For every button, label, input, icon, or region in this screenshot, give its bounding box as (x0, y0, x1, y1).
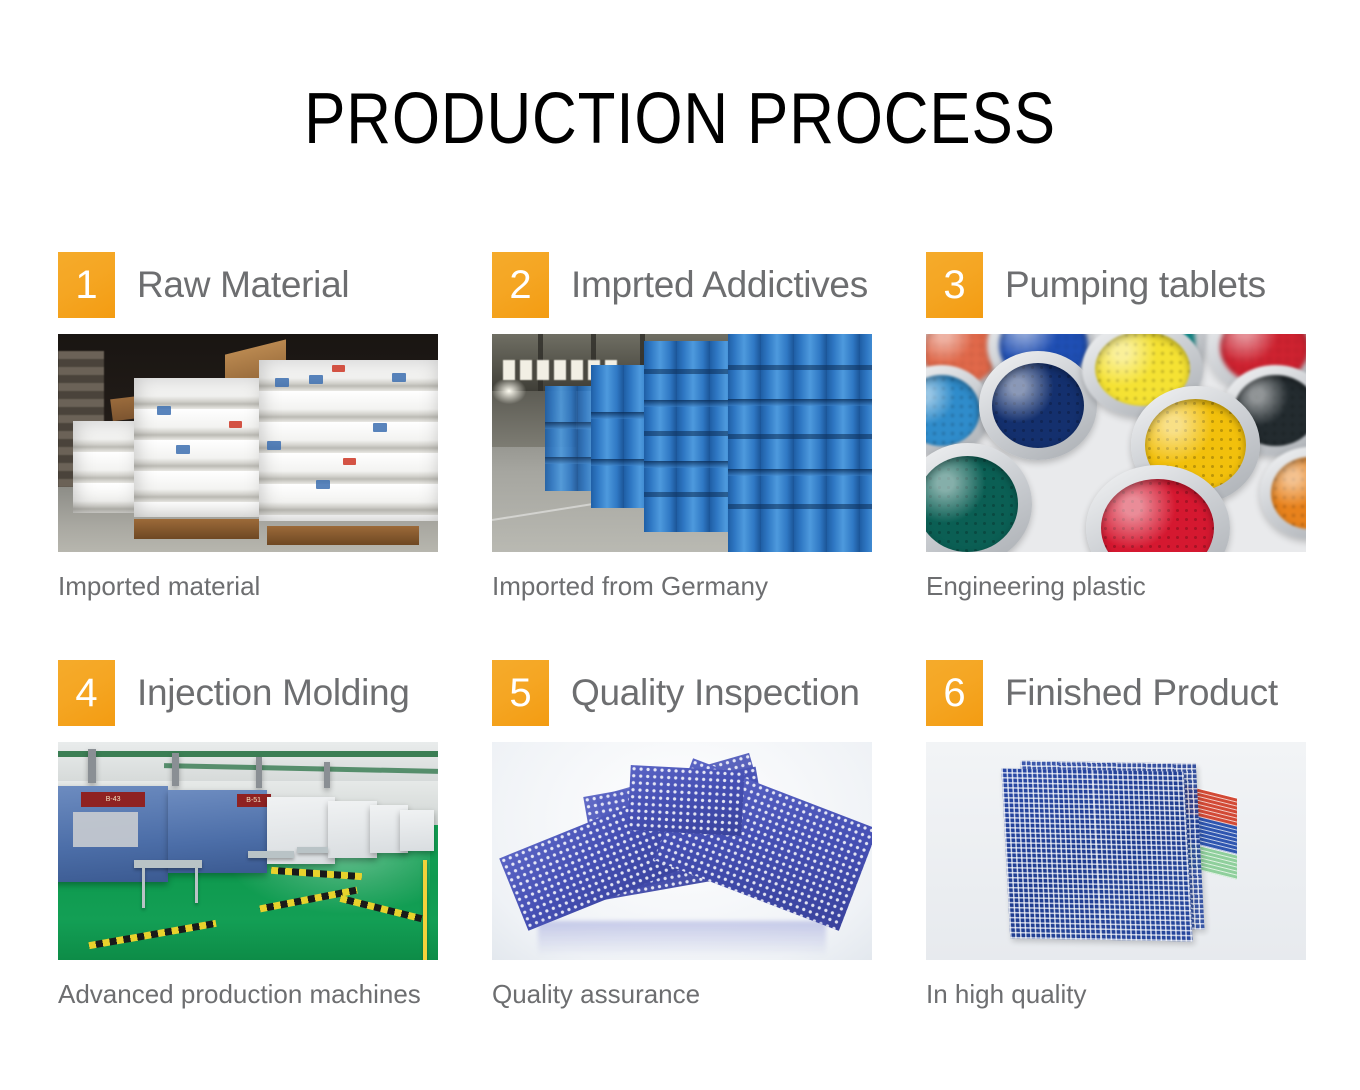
step-header-5: 5 Quality Inspection (492, 660, 872, 726)
step-caption-1: Imported material (58, 571, 438, 602)
sack-print-mark (392, 373, 406, 382)
work-table (248, 851, 294, 858)
page-title: PRODUCTION PROCESS (95, 78, 1265, 160)
step-photo-4: B-43 B-51 (58, 742, 438, 960)
process-step-card-3: 3 Pumping tablets (926, 252, 1306, 602)
drum-tier-line (644, 461, 728, 468)
drum-tier-line (591, 412, 644, 419)
sack-stack-middle (134, 378, 267, 518)
machine-id-label: B-51 (237, 794, 271, 807)
sack-print-mark (157, 406, 171, 415)
factory-ceiling (58, 742, 438, 786)
step-caption-2: Imported from Germany (492, 571, 872, 602)
step-photo-6 (926, 742, 1306, 960)
process-step-card-1: 1 Raw Material Imported mate (58, 252, 438, 602)
drum-band (728, 504, 872, 509)
step-caption-5: Quality assurance (492, 979, 872, 1010)
step-number-badge-1: 1 (58, 252, 115, 318)
wooden-pallet-right (267, 526, 419, 546)
work-table (297, 847, 327, 854)
step-photo-2 (492, 334, 872, 552)
work-table (134, 860, 202, 869)
step-photo-1 (58, 334, 438, 552)
pellet-bowl-orange-front (1260, 447, 1306, 539)
overhead-pipe (58, 751, 438, 757)
step-number-badge-5: 5 (492, 660, 549, 726)
material-hopper-stem (88, 749, 96, 784)
step-number-badge-2: 2 (492, 252, 549, 318)
step-number-badge-6: 6 (926, 660, 983, 726)
sack-print-mark (176, 445, 190, 454)
sack-red-mark (332, 365, 345, 372)
step-header-1: 1 Raw Material (58, 252, 438, 318)
floor-tile-apex (627, 765, 744, 836)
step-photo-5 (492, 742, 872, 960)
drum-band (728, 365, 872, 370)
work-table-leg (195, 868, 198, 903)
drum-tier-line (591, 459, 644, 466)
drum-tier-line (728, 399, 872, 406)
step-title-3: Pumping tablets (1005, 264, 1266, 306)
material-hopper-stem (172, 753, 179, 786)
material-hopper-stem (256, 757, 262, 788)
machine-control-panel (73, 812, 138, 847)
sack-print-mark (275, 378, 289, 387)
sack-stack-left (73, 421, 141, 513)
pellet-bowl-navy (979, 351, 1097, 460)
step-header-3: 3 Pumping tablets (926, 252, 1306, 318)
drum-tier-line (545, 457, 591, 464)
step-header-2: 2 Imprted Addictives (492, 252, 872, 318)
step-title-6: Finished Product (1005, 672, 1278, 714)
process-step-card-6: 6 Finished Product In high quality (926, 660, 1306, 1010)
step-caption-6: In high quality (926, 979, 1306, 1010)
drum-tier-line (728, 469, 872, 476)
step-title-5: Quality Inspection (571, 672, 860, 714)
drum-tier-line (644, 400, 728, 407)
step-title-2: Imprted Addictives (571, 264, 868, 306)
drum-column-near (728, 334, 872, 552)
sack-red-mark (343, 458, 356, 465)
step-caption-3: Engineering plastic (926, 571, 1306, 602)
drum-column-far (591, 365, 644, 509)
step-photo-3 (926, 334, 1306, 552)
step-title-1: Raw Material (137, 264, 349, 306)
wooden-pallet-left (134, 519, 259, 539)
sack-print-mark (316, 480, 330, 489)
machine-id-label: B-43 (81, 792, 146, 807)
drum-band (644, 431, 728, 436)
floor-yellow-line (423, 860, 427, 960)
sack-print-mark (267, 441, 281, 450)
process-step-card-2: 2 Imprted Addictives (492, 252, 872, 602)
drum-tier-line (545, 422, 591, 429)
work-table-leg (142, 868, 145, 907)
process-step-card-4: 4 Injection Molding B-43 B-51 (58, 660, 438, 1010)
sack-red-mark (229, 421, 242, 428)
step-title-4: Injection Molding (137, 672, 410, 714)
injection-molding-machine (400, 810, 434, 851)
drum-column-farthest (545, 386, 591, 491)
step-header-6: 6 Finished Product (926, 660, 1306, 726)
drum-band (728, 434, 872, 439)
step-header-4: 4 Injection Molding (58, 660, 438, 726)
step-caption-4: Advanced production machines (58, 979, 438, 1010)
floor-tile-front (1001, 769, 1193, 942)
sack-print-mark (309, 375, 323, 384)
process-step-card-5: 5 Quality Inspection Quality assurance (492, 660, 872, 1010)
window-light-glow (492, 378, 526, 404)
tile-reflection (538, 921, 827, 956)
step-number-badge-3: 3 (926, 252, 983, 318)
sack-print-mark (373, 423, 387, 432)
step-number-badge-4: 4 (58, 660, 115, 726)
material-hopper-stem (324, 762, 330, 788)
drum-band (644, 369, 728, 374)
process-steps-grid: 1 Raw Material Imported mate (58, 252, 1306, 1010)
pellet-bowl-dark-green (926, 443, 1032, 552)
drum-column-mid (644, 341, 728, 533)
drum-band (644, 492, 728, 497)
